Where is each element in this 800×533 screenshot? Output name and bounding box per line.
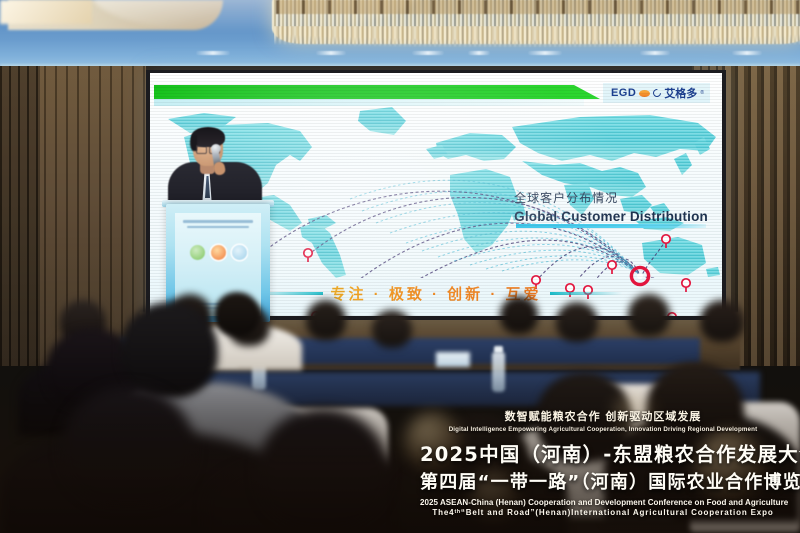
slide-header-band (154, 85, 574, 99)
logo-chinese-name: 艾格多 (664, 85, 697, 101)
ceiling-light-strip (412, 51, 444, 55)
water-bottle (492, 352, 505, 392)
ceiling-light-strip (316, 51, 346, 55)
attendee-head (700, 300, 744, 342)
attendee-head (306, 300, 346, 340)
attendee-head (120, 302, 218, 398)
ceiling (0, 0, 800, 72)
conference-title-chinese-line1: 2025中国（河南）-东盟粮农合作发展大会 (420, 438, 786, 467)
conference-title-chinese-line2: 第四届“一带一路”（河南）国际农业合作博览会 (420, 468, 786, 494)
chandelier-frame (276, 0, 800, 14)
ceiling-light-strip (196, 51, 230, 55)
logo-arc-icon (652, 87, 663, 98)
ceiling-light-strip (528, 51, 562, 55)
slide-title-chinese: 全球客户分布情况 (514, 189, 708, 206)
podium-text-line (183, 220, 253, 223)
attendee-head (628, 294, 670, 336)
attendee-head (372, 310, 412, 348)
podium-text-line (187, 226, 249, 229)
logo-wordmark: EGD (611, 87, 636, 99)
logo-dot-icon (639, 90, 650, 97)
conference-title-english-line1: 2025 ASEAN-China (Henan) Cooperation and… (420, 498, 786, 507)
conference-title-english-line2: The4ᵗʰ“Belt and Road”(Henan)Internationa… (420, 508, 786, 517)
podium-emblem-orange-icon (211, 245, 226, 260)
slide-footer-line-right (550, 292, 622, 295)
ceiling-light-strip (468, 51, 490, 55)
ceiling-light-strip (640, 51, 670, 55)
attendee-head (258, 408, 388, 530)
egd-logo: EGD 艾格多 ® (603, 83, 710, 103)
conference-photo-scene: EGD 艾格多 ® (0, 0, 800, 533)
logo-registered-mark: ® (700, 90, 704, 96)
ceiling-panel-inner (0, 0, 92, 24)
chandelier-crystals (274, 26, 800, 48)
attendee-head (62, 386, 194, 506)
microphone-head (211, 144, 221, 153)
podium-emblems (190, 245, 247, 260)
podium-emblem-blue-icon (232, 245, 247, 260)
speaker-and-podium (152, 126, 278, 322)
slide-title: 全球客户分布情况 Global Customer Distribution (514, 189, 708, 226)
attendee-head (500, 296, 538, 334)
podium-emblem-green-icon (190, 245, 205, 260)
slide-title-english: Global Customer Distribution (514, 209, 708, 226)
bottle-cap (494, 346, 503, 353)
ceiling-light-strip (732, 51, 762, 55)
conference-title-block: 数智赋能粮农合作 创新驱动区域发展 Digital Intelligence E… (420, 408, 786, 517)
wood-panel-wall-far-left (0, 66, 40, 366)
attendee-head (556, 302, 598, 342)
conference-tagline-english: Digital Intelligence Empowering Agricult… (420, 426, 786, 433)
name-card (436, 352, 470, 367)
conference-tagline-chinese: 数智赋能粮农合作 创新驱动区域发展 (420, 408, 786, 424)
attendee-head (214, 292, 260, 336)
